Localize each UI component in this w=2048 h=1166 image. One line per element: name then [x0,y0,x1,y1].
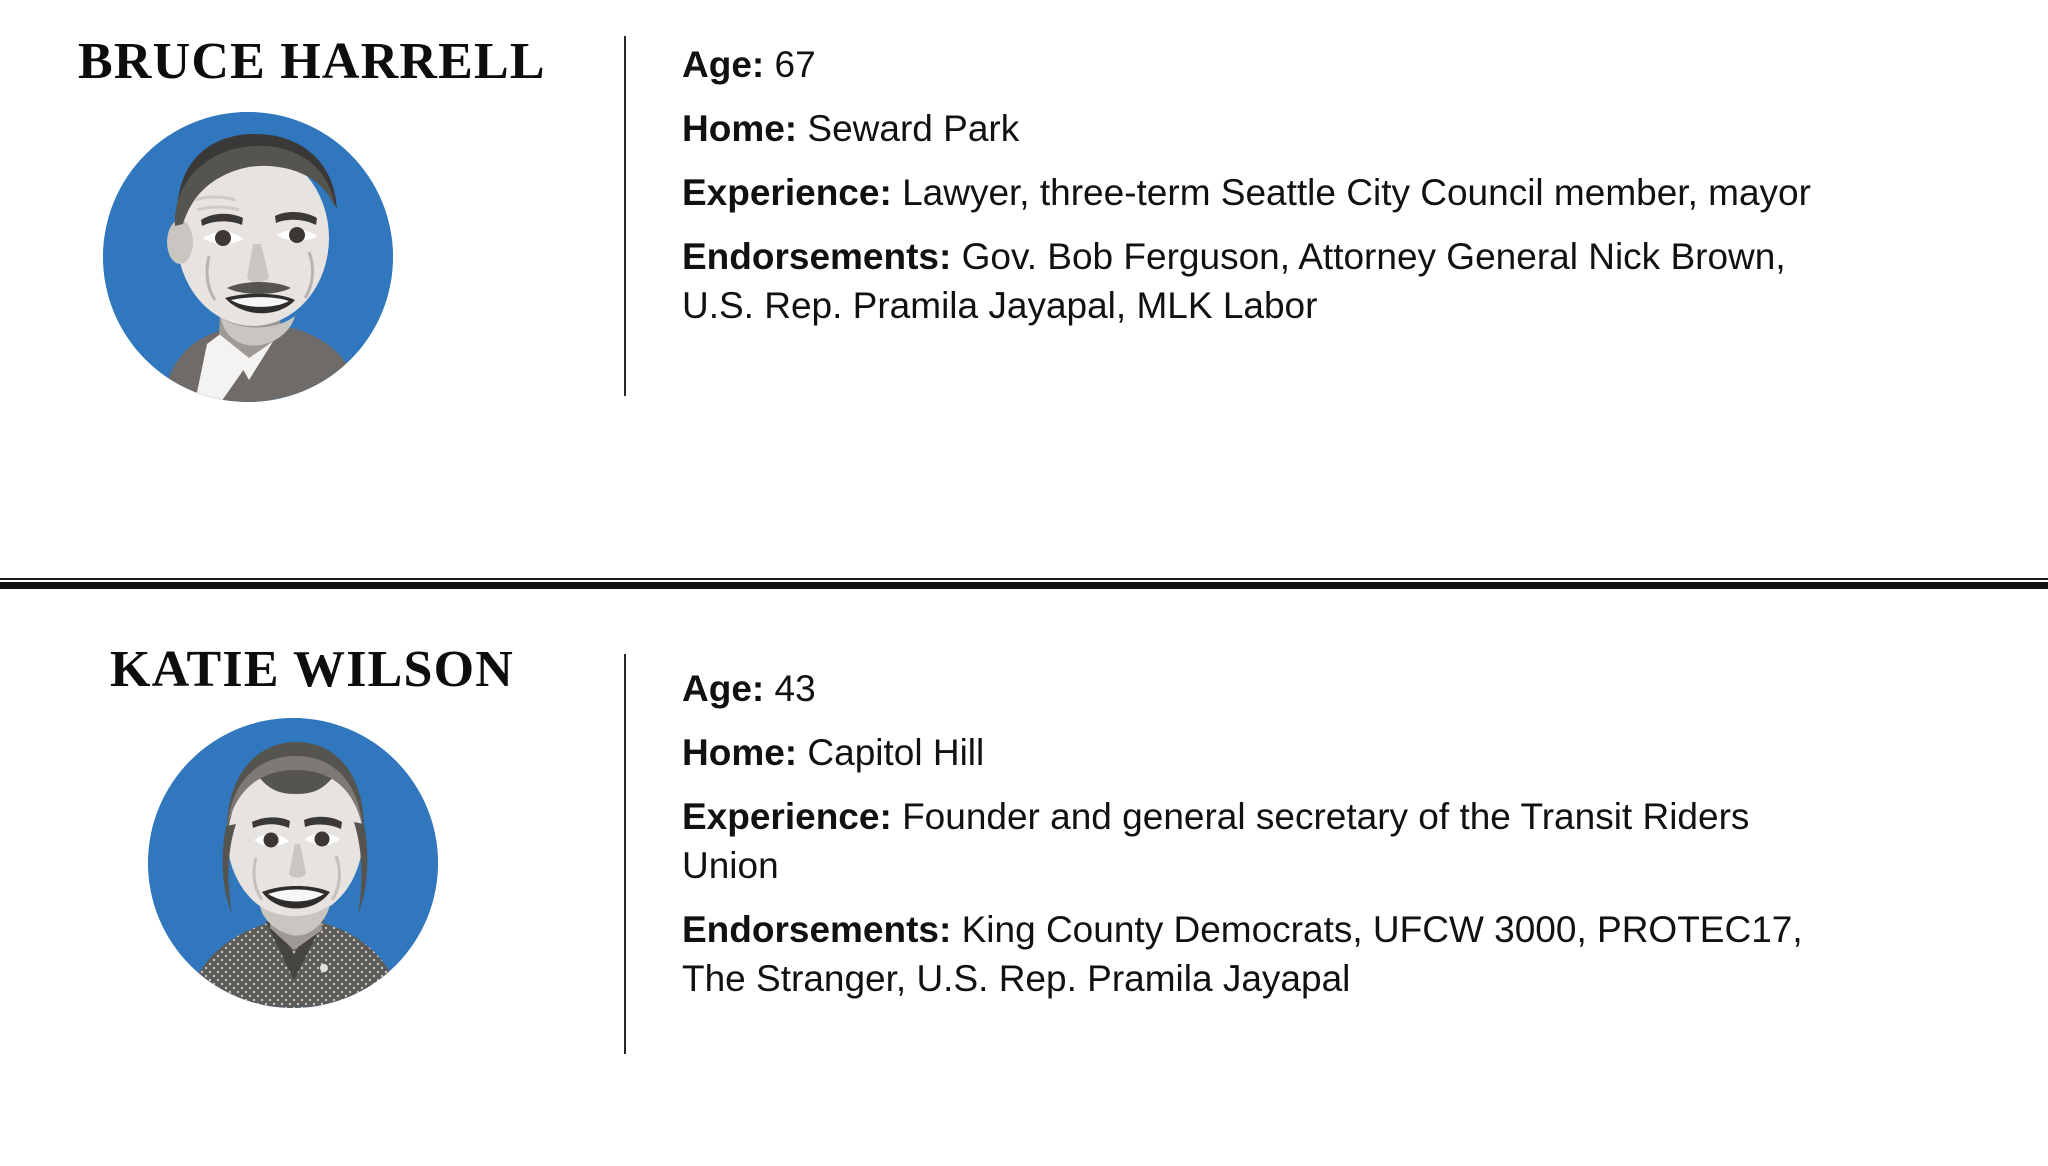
detail-label-age: Age: [682,44,764,85]
detail-row-age: Age: 43 [682,664,1807,713]
detail-row-home: Home: Seward Park [682,104,1842,153]
detail-value-home: Seward Park [807,108,1019,149]
divider-thick-line [0,582,2048,589]
detail-row-endorsements: Endorsements: King County Democrats, UFC… [682,905,1807,1003]
candidate-name-wilson: KATIE WILSON [110,640,514,699]
detail-row-age: Age: 67 [682,40,1842,89]
detail-label-experience: Experience: [682,796,892,837]
candidate-card-wilson: KATIE WILSON [0,592,2048,1166]
section-divider [0,578,2048,592]
detail-value-home: Capitol Hill [807,732,984,773]
candidate-name-harrell: BRUCE HARRELL [78,32,546,91]
detail-label-endorsements: Endorsements: [682,909,951,950]
detail-row-endorsements: Endorsements: Gov. Bob Ferguson, Attorne… [682,232,1842,330]
detail-value-age: 67 [775,44,816,85]
detail-list-harrell: Age: 67 Home: Seward Park Experience: La… [682,0,2048,330]
detail-row-experience: Experience: Founder and general secretar… [682,792,1807,890]
divider-thin-line [0,578,2048,580]
detail-label-endorsements: Endorsements: [682,236,951,277]
detail-value-experience: Lawyer, three-term Seattle City Council … [902,172,1811,213]
candidate-details-column: Age: 43 Home: Capitol Hill Experience: F… [625,592,2048,1166]
detail-value-age: 43 [775,668,816,709]
candidate-left-column: KATIE WILSON [0,592,625,1166]
detail-row-home: Home: Capitol Hill [682,728,1807,777]
candidate-details-column: Age: 67 Home: Seward Park Experience: La… [625,0,2048,578]
candidate-card-harrell: BRUCE HARRELL [0,0,2048,578]
detail-list-wilson: Age: 43 Home: Capitol Hill Experience: F… [682,592,2048,1003]
detail-label-experience: Experience: [682,172,892,213]
detail-label-home: Home: [682,108,797,149]
detail-row-experience: Experience: Lawyer, three-term Seattle C… [682,168,1842,217]
detail-label-age: Age: [682,668,764,709]
katie-wilson-portrait [148,718,438,1008]
detail-label-home: Home: [682,732,797,773]
candidate-left-column: BRUCE HARRELL [0,0,625,578]
bruce-harrell-portrait [103,112,393,402]
